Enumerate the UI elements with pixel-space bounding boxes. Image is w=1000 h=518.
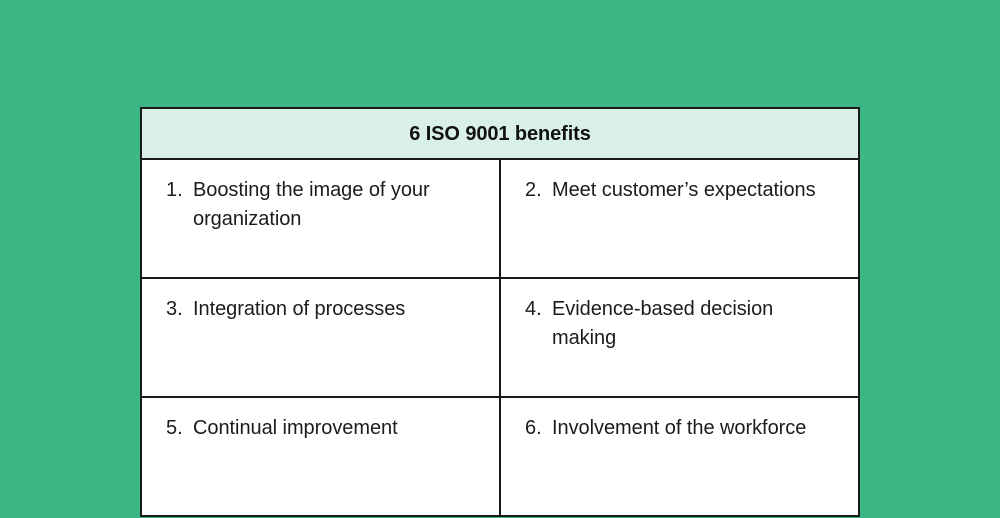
benefit-cell-3: 3. Integration of processes xyxy=(141,278,500,397)
list-item-number: 4. xyxy=(525,295,549,324)
table-row: 1. Boosting the image of your organizati… xyxy=(141,159,859,278)
list-item-label: Continual improvement xyxy=(193,414,481,443)
list-item-label: Meet customer’s expectations xyxy=(552,176,840,205)
list-item-label: Boosting the image of your organization xyxy=(193,176,481,234)
list-item: 4. Evidence-based decision making xyxy=(525,295,840,353)
benefit-cell-2: 2. Meet customer’s expectations xyxy=(500,159,859,278)
list-item-label: Evidence-based decision making xyxy=(552,295,840,353)
list-item-number: 6. xyxy=(525,414,549,443)
list-item: 2. Meet customer’s expectations xyxy=(525,176,840,205)
iso-benefits-table: 6 ISO 9001 benefits 1. Boosting the imag… xyxy=(140,107,860,517)
table-row: 3. Integration of processes 4. Evidence-… xyxy=(141,278,859,397)
list-item-number: 2. xyxy=(525,176,549,205)
page-canvas: 6 ISO 9001 benefits 1. Boosting the imag… xyxy=(0,0,1000,518)
benefit-cell-5: 5. Continual improvement xyxy=(141,397,500,516)
list-item-number: 3. xyxy=(166,295,190,324)
list-item-number: 1. xyxy=(166,176,190,205)
list-item: 6. Involvement of the workforce xyxy=(525,414,840,443)
table-header-row: 6 ISO 9001 benefits xyxy=(141,108,859,159)
benefit-cell-6: 6. Involvement of the workforce xyxy=(500,397,859,516)
list-item: 5. Continual improvement xyxy=(166,414,481,443)
benefit-cell-4: 4. Evidence-based decision making xyxy=(500,278,859,397)
table-header: 6 ISO 9001 benefits xyxy=(141,108,859,159)
benefit-cell-1: 1. Boosting the image of your organizati… xyxy=(141,159,500,278)
table-header-cell: 6 ISO 9001 benefits xyxy=(141,108,859,159)
table-title: 6 ISO 9001 benefits xyxy=(152,122,848,146)
list-item-label: Involvement of the workforce xyxy=(552,414,840,443)
list-item: 3. Integration of processes xyxy=(166,295,481,324)
list-item-number: 5. xyxy=(166,414,190,443)
table-row: 5. Continual improvement 6. Involvement … xyxy=(141,397,859,516)
list-item: 1. Boosting the image of your organizati… xyxy=(166,176,481,234)
list-item-label: Integration of processes xyxy=(193,295,481,324)
table-body: 1. Boosting the image of your organizati… xyxy=(141,159,859,516)
